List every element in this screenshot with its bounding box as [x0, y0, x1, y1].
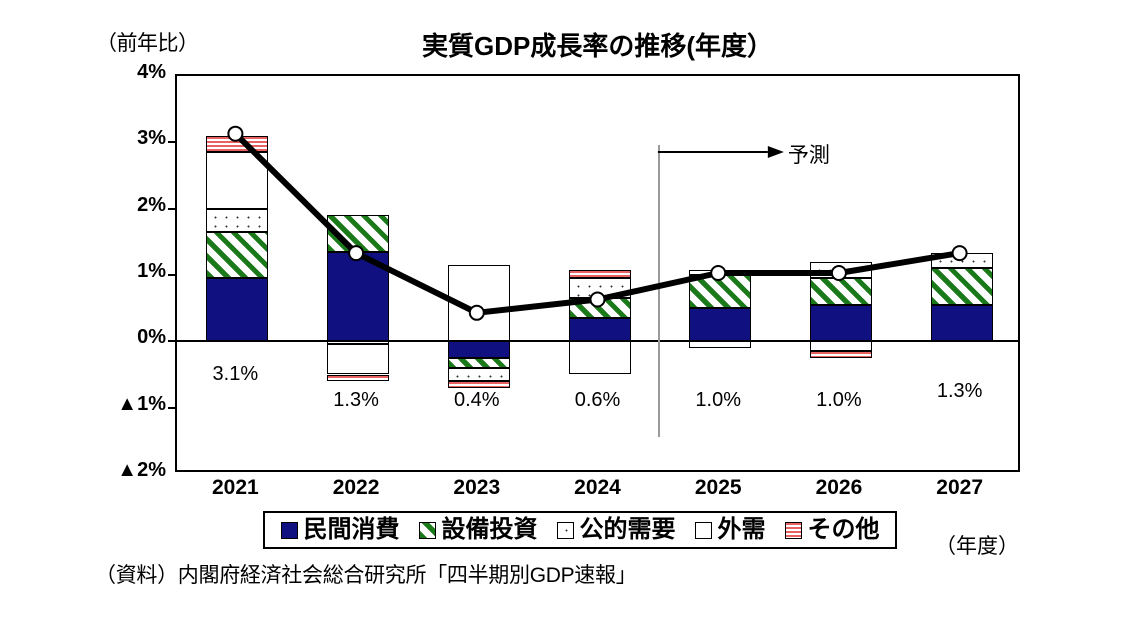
y-axis-tick-label: 3% [98, 127, 166, 150]
legend-item[interactable]: 公的需要 [557, 518, 676, 542]
legend-item[interactable]: その他 [785, 518, 880, 542]
data-value-label: 1.3% [301, 389, 411, 412]
legend-item-label: 民間消費 [304, 518, 400, 542]
y-axis-tick-label: 1% [98, 260, 166, 283]
data-value-label: 1.0% [784, 389, 894, 412]
forecast-annotation-label: 予測 [788, 139, 830, 169]
data-value-label: 1.3% [905, 380, 1015, 403]
y-axis-tick-label: 2% [98, 194, 166, 217]
x-axis-tick-label: 2021 [185, 476, 285, 500]
y-axis-tick-label: 0% [98, 326, 166, 349]
legend-swatch-icon [557, 522, 574, 539]
legend-item[interactable]: 外需 [695, 518, 766, 542]
legend-item-label: 外需 [718, 518, 766, 542]
x-axis-tick-label: 2027 [910, 476, 1010, 500]
source-note: （資料）内閣府経済社会総合研究所「四半期別GDP速報」 [95, 559, 636, 589]
x-axis-tick-label: 2022 [306, 476, 406, 500]
data-value-label: 0.4% [422, 389, 532, 412]
y-axis-tick-label: 4% [98, 61, 166, 84]
legend-swatch-icon [785, 522, 802, 539]
x-axis-unit-label: （年度） [935, 530, 1019, 560]
chart-page: （前年比） 実質GDP成長率の推移(年度） 4%3%2%1%0%▲1%▲2% 2… [0, 0, 1139, 626]
legend-swatch-icon [281, 522, 298, 539]
y-axis-tick-label: ▲1% [98, 393, 166, 416]
x-axis-tick-label: 2024 [548, 476, 648, 500]
chart-legend: 民間消費設備投資公的需要外需その他 [263, 511, 897, 549]
x-axis-tick-label: 2025 [668, 476, 768, 500]
legend-swatch-icon [419, 522, 436, 539]
legend-item[interactable]: 設備投資 [419, 518, 538, 542]
data-value-label: 3.1% [180, 363, 290, 386]
x-axis-tick-label: 2023 [427, 476, 527, 500]
legend-item-label: 設備投資 [442, 518, 538, 542]
legend-item-label: 公的需要 [580, 518, 676, 542]
data-value-label: 0.6% [543, 389, 653, 412]
legend-item[interactable]: 民間消費 [281, 518, 400, 542]
legend-item-label: その他 [808, 518, 880, 542]
legend-swatch-icon [695, 522, 712, 539]
y-axis-tick-label: ▲2% [98, 459, 166, 482]
x-axis-tick-label: 2026 [789, 476, 889, 500]
forecast-divider [658, 145, 660, 437]
data-value-label: 1.0% [663, 389, 773, 412]
